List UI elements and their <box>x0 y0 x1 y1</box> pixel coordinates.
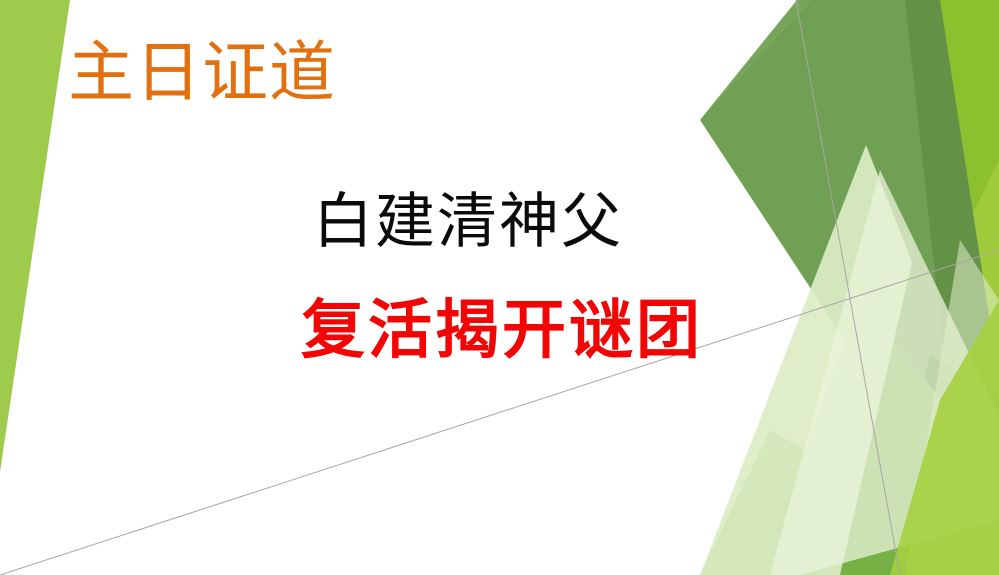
dark-green-wedge <box>915 355 999 470</box>
hairline-diagonal-primary <box>796 0 900 575</box>
sermon-subject: 复活揭开谜团 <box>301 299 703 363</box>
slide-title: 主日证道 <box>68 40 336 106</box>
right-lime-column <box>828 0 999 575</box>
lime-bottom-right-overlay <box>890 300 999 575</box>
sage-green-dark-overlay <box>905 0 999 430</box>
sage-green-large-triangle <box>700 0 999 470</box>
presentation-slide: 主日证道 白建清神父 复活揭开谜团 <box>0 0 999 575</box>
right-bright-green-band <box>880 0 999 300</box>
pale-green-right-sliver <box>905 240 999 575</box>
left-green-wedge <box>0 0 70 472</box>
speaker-name: 白建清神父 <box>313 192 623 252</box>
light-sliver-top <box>700 0 812 120</box>
pale-green-long-wedge <box>700 145 912 575</box>
mid-green-lower-triangle <box>760 300 999 575</box>
mid-green-bottom-wedge <box>700 430 999 575</box>
very-pale-green-wedge <box>770 170 999 575</box>
